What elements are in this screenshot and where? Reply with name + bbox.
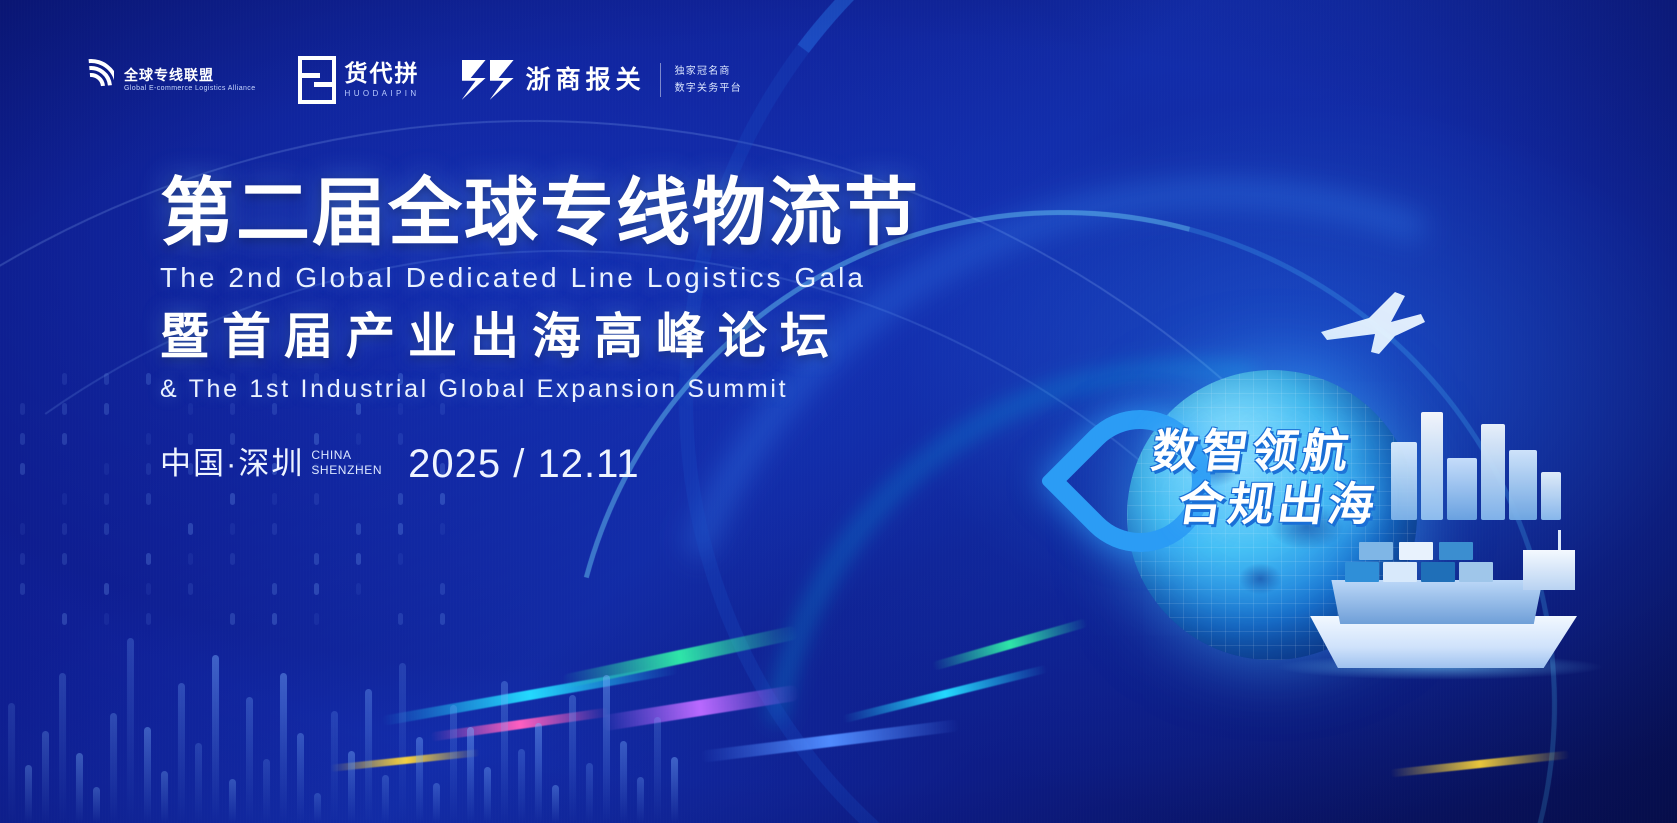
sponsor-name-en: HUODAIPIN bbox=[345, 89, 420, 98]
zheshang-mark-icon bbox=[462, 60, 516, 100]
sponsor-divider bbox=[660, 63, 661, 97]
slogan-line-1: 数智领航 bbox=[1148, 425, 1485, 478]
sponsor-tagline-line2: 数字关务平台 bbox=[675, 80, 742, 97]
slogan-text: 数智领航 合规出海 bbox=[1152, 425, 1482, 531]
cargo-ship-icon bbox=[1299, 526, 1599, 686]
sponsor-logo-zheshang: 浙商报关 独家冠名商 数字关务平台 bbox=[462, 60, 742, 100]
event-title-en: The 2nd Global Dedicated Line Logistics … bbox=[160, 262, 1040, 294]
sponsor-name-cn: 浙商报关 bbox=[526, 68, 646, 93]
huodaipin-mark-icon bbox=[298, 56, 336, 104]
swirl-logo-icon bbox=[62, 57, 114, 103]
sponsor-name-en: Global E-commerce Logistics Alliance bbox=[124, 84, 256, 93]
event-title-cn: 第二届全球专线物流节 bbox=[160, 176, 1040, 250]
sponsor-logo-huodaipin: 货代拼 HUODAIPIN bbox=[298, 56, 420, 104]
sponsor-name-cn: 货代拼 bbox=[345, 62, 420, 85]
event-city-cn: 中国·深圳 bbox=[160, 438, 304, 483]
event-date: 2025 / 12.11 bbox=[408, 445, 639, 483]
event-meta: 中国·深圳 CHINA SHENZHEN 2025 / 12.11 bbox=[160, 438, 1040, 483]
sponsor-logo-alliance: 全球专线联盟 Global E-commerce Logistics Allia… bbox=[62, 57, 256, 103]
event-city-en: CHINA SHENZHEN bbox=[311, 448, 382, 478]
event-banner: 全球专线联盟 Global E-commerce Logistics Allia… bbox=[0, 0, 1677, 823]
event-subtitle-en: & The 1st Industrial Global Expansion Su… bbox=[160, 375, 1040, 404]
slogan-artwork: 数智领航 合规出海 bbox=[1057, 250, 1617, 710]
sponsor-name-cn: 全球专线联盟 bbox=[124, 67, 256, 83]
event-subtitle-cn: 暨首届产业出海高峰论坛 bbox=[160, 312, 1040, 361]
slogan-line-2: 合规出海 bbox=[1174, 478, 1485, 531]
headline-block: 第二届全球专线物流节 The 2nd Global Dedicated Line… bbox=[160, 176, 1040, 483]
airplane-icon bbox=[1317, 288, 1427, 358]
sponsor-tagline-line1: 独家冠名商 bbox=[675, 63, 742, 80]
sponsor-logo-bar: 全球专线联盟 Global E-commerce Logistics Allia… bbox=[62, 52, 742, 108]
